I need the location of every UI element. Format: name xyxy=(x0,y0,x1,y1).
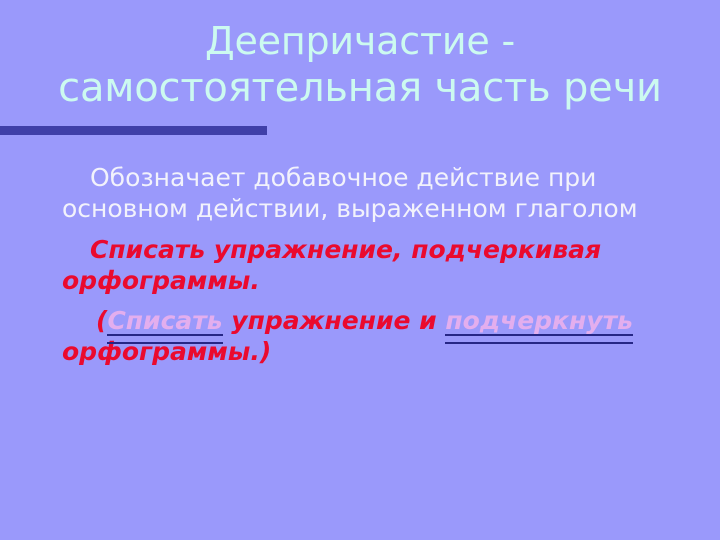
title-line-2: самостоятельная часть речи xyxy=(0,65,720,112)
faded-verb-podcherknut: подчеркнуть xyxy=(445,306,633,335)
slide-body: Обозначает добавочное действие при основ… xyxy=(34,162,694,373)
title-line-1: Деепричастие - xyxy=(0,18,720,65)
slide-title: Деепричастие - самостоятельная часть реч… xyxy=(0,18,720,112)
body-paragraph-example: Списать упражнение, подчеркивая орфограм… xyxy=(34,234,694,296)
open-paren: ( xyxy=(96,306,107,335)
body-paragraph-transform: (Списать упражнение и подчеркнуть орфогр… xyxy=(34,305,694,367)
title-divider-bar xyxy=(0,126,267,135)
slide-canvas: Деепричастие - самостоятельная часть реч… xyxy=(0,0,720,540)
faded-verb-spisat: Списать xyxy=(107,306,222,335)
body-paragraph-definition: Обозначает добавочное действие при основ… xyxy=(34,162,694,224)
red-segment-1: упражнение и xyxy=(223,306,446,335)
